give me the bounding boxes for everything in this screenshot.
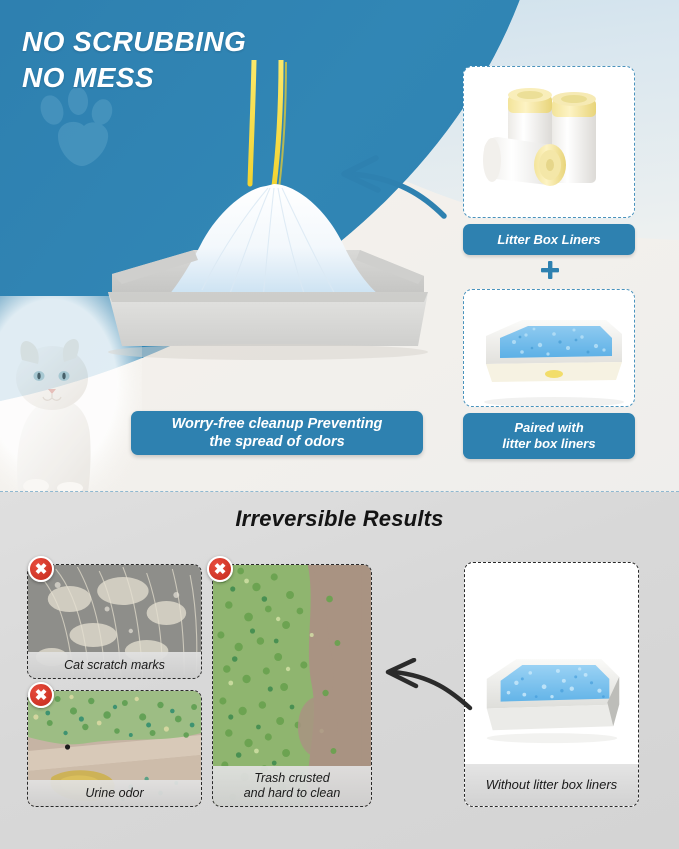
section-title: Irreversible Results bbox=[0, 506, 679, 532]
card-urine-odor: Urine odor bbox=[27, 690, 202, 807]
infographic-page: NO SCRUBBING NO MESS bbox=[0, 0, 679, 849]
panel-paired-with-liners: Paired with litter box liners bbox=[463, 289, 635, 461]
red-x-icon: ✖ bbox=[207, 556, 233, 582]
liners-product-image bbox=[463, 66, 635, 218]
caption-text: Worry-free cleanup Preventing the spread… bbox=[172, 415, 383, 451]
plain-litter-tray-with-blue-litter bbox=[465, 563, 638, 766]
trash-caption: Trash crusted and hard to clean bbox=[213, 766, 371, 806]
litter-tray-with-blue-crystal-litter bbox=[464, 290, 635, 407]
paired-label: Paired with litter box liners bbox=[463, 413, 635, 459]
page-headline: NO SCRUBBING NO MESS bbox=[22, 24, 246, 96]
three-rolls-of-litter-box-liners bbox=[464, 67, 635, 218]
without-caption: Without litter box liners bbox=[465, 764, 638, 806]
panel-litter-box-liners: Litter Box Liners bbox=[463, 66, 635, 255]
curved-arrow-left-icon bbox=[332, 152, 452, 222]
urine-caption: Urine odor bbox=[28, 780, 201, 806]
red-x-icon: ✖ bbox=[28, 682, 54, 708]
card-without-liners: Without litter box liners bbox=[464, 562, 639, 807]
paired-product-image bbox=[463, 289, 635, 407]
red-x-icon: ✖ bbox=[28, 556, 54, 582]
top-section: NO SCRUBBING NO MESS bbox=[0, 0, 679, 492]
card-cat-scratch-marks: Cat scratch marks bbox=[27, 564, 202, 679]
section-divider bbox=[0, 491, 679, 492]
caption-banner: Worry-free cleanup Preventing the spread… bbox=[131, 411, 423, 455]
liners-label: Litter Box Liners bbox=[463, 224, 635, 255]
card-trash-crusted: Trash crusted and hard to clean bbox=[212, 564, 372, 807]
curved-arrow-left-icon bbox=[378, 658, 474, 716]
plus-icon bbox=[541, 261, 559, 279]
scratch-caption: Cat scratch marks bbox=[28, 652, 201, 678]
